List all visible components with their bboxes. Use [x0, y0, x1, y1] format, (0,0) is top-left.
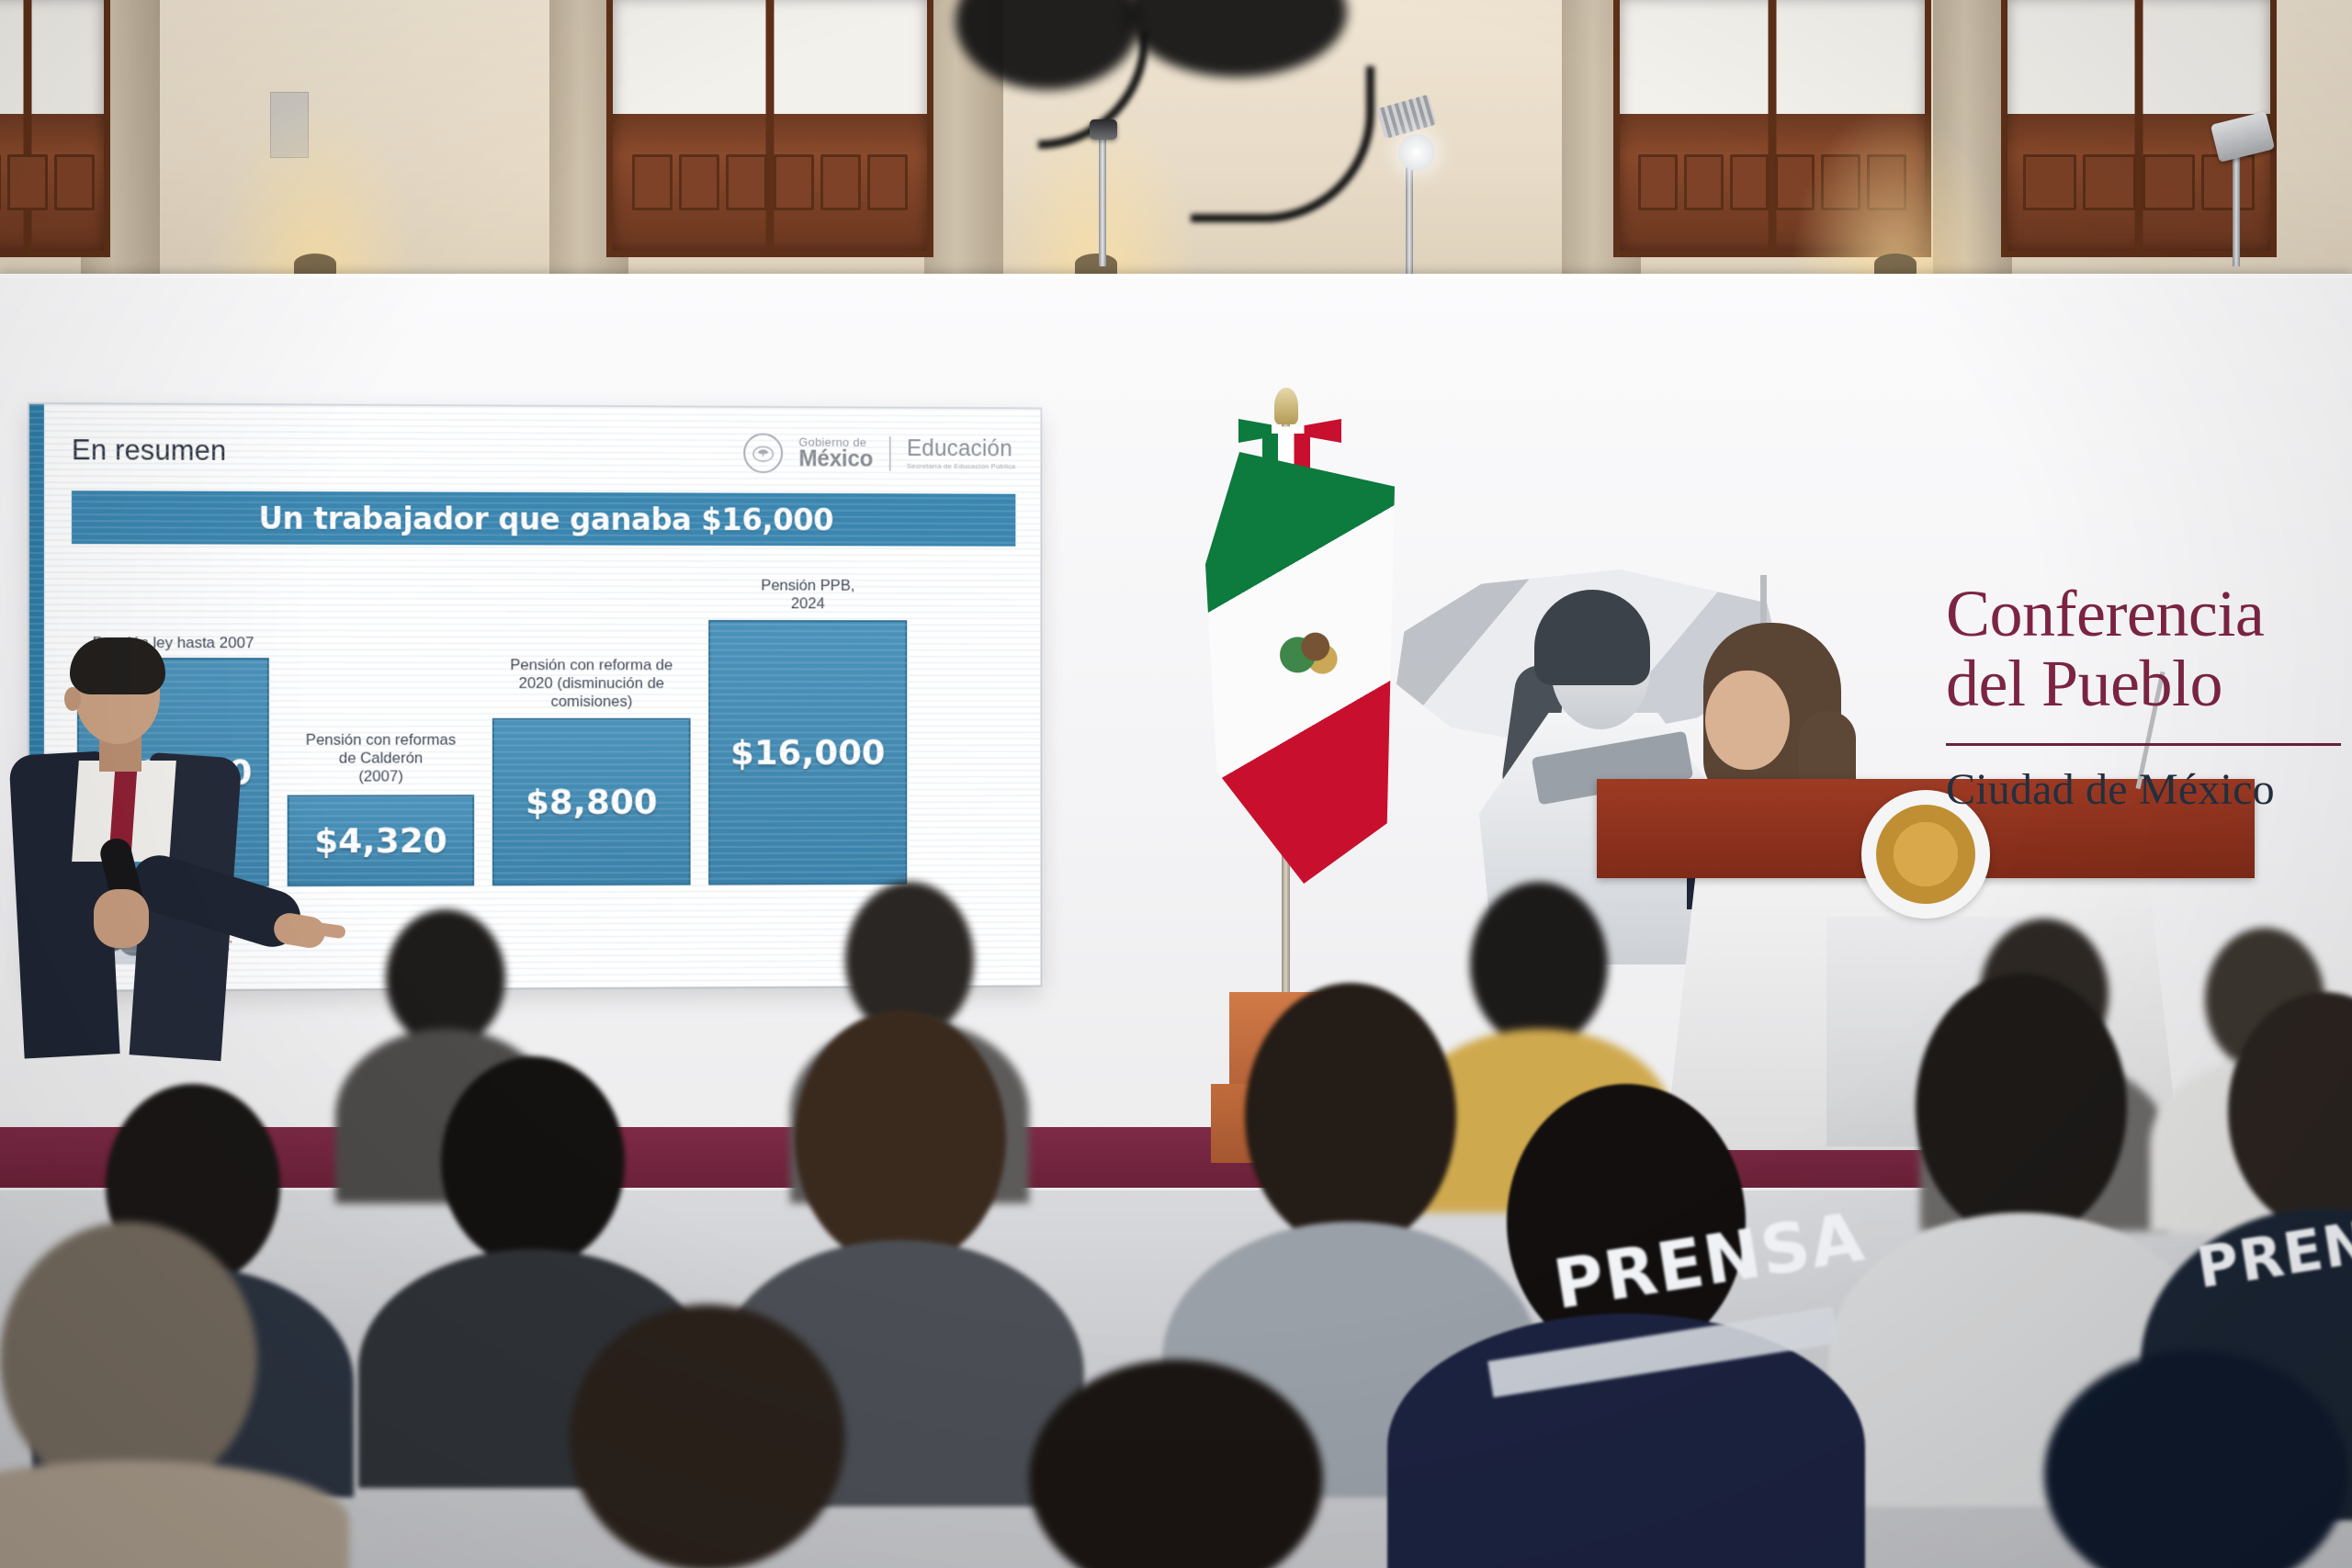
president-face	[1705, 671, 1790, 770]
gobierno-de-mexico-logo: Gobierno de México	[798, 436, 873, 471]
bar-group-1: Pensión con reformas de Calderón (2007) …	[288, 795, 474, 886]
educacion-logo: Educación Secretaría de Educación Públic…	[907, 437, 1015, 470]
bar-group-2: Pensión con reforma de 2020 (disminución…	[492, 718, 691, 886]
banner-divider	[1946, 743, 2341, 746]
coat-of-arms-icon	[743, 434, 783, 474]
banner-title-line-1: Conferencia	[1946, 577, 2264, 650]
camera-head-icon	[1090, 119, 1117, 140]
floor-uplight	[1790, 101, 2001, 276]
flag-finial-icon	[1274, 388, 1298, 424]
bar-label-2: Pensión con reforma de 2020 (disminución…	[476, 656, 707, 711]
floor-uplight	[209, 101, 421, 276]
bar-group-3: Pensión PPB, 2024 $16,000	[708, 620, 907, 886]
bar-value-2: $8,800	[526, 782, 658, 822]
light-stand	[1099, 138, 1106, 266]
bar-3: $16,000	[708, 620, 907, 886]
palace-door	[606, 0, 933, 257]
slide-kicker: En resumen	[72, 434, 226, 468]
banner-title: Conferencia del Pueblo	[1946, 579, 2352, 719]
bar-label-3: Pensión PPB, 2024	[718, 576, 898, 613]
stage-light-bulb-icon	[1398, 134, 1435, 171]
presenter-speaker	[9, 643, 303, 1066]
conference-banner: Conferencia del Pueblo Ciudad de México	[1946, 579, 2352, 891]
bar-value-1: $4,320	[314, 820, 447, 861]
slide-title: Un trabajador que ganaba $16,000	[258, 500, 833, 537]
palace-door	[0, 0, 110, 257]
slide-title-band: Un trabajador que ganaba $16,000	[72, 491, 1015, 547]
bar-value-3: $16,000	[730, 732, 885, 773]
bar-2: $8,800	[492, 718, 691, 886]
slide-header: En resumen Gobierno de México	[72, 404, 1015, 474]
audience-member	[983, 1359, 1369, 1568]
slide-logos: Gobierno de México Educación Secretaría …	[743, 434, 1015, 475]
light-stand	[1406, 156, 1413, 285]
light-stand	[2233, 156, 2240, 266]
bar-label-1: Pensión con reformas de Calderón (2007)	[272, 731, 490, 786]
logo-divider	[889, 436, 891, 470]
press-conference-photo: En resumen Gobierno de México	[0, 0, 2352, 1568]
audience-member	[514, 1304, 900, 1568]
banner-subtitle: Ciudad de México	[1946, 764, 2352, 815]
bar-1: $4,320	[288, 795, 474, 886]
banner-title-line-2: del Pueblo	[1946, 647, 2222, 720]
coat-of-arms-icon	[1264, 615, 1352, 683]
mexican-flag	[1185, 386, 1396, 1029]
